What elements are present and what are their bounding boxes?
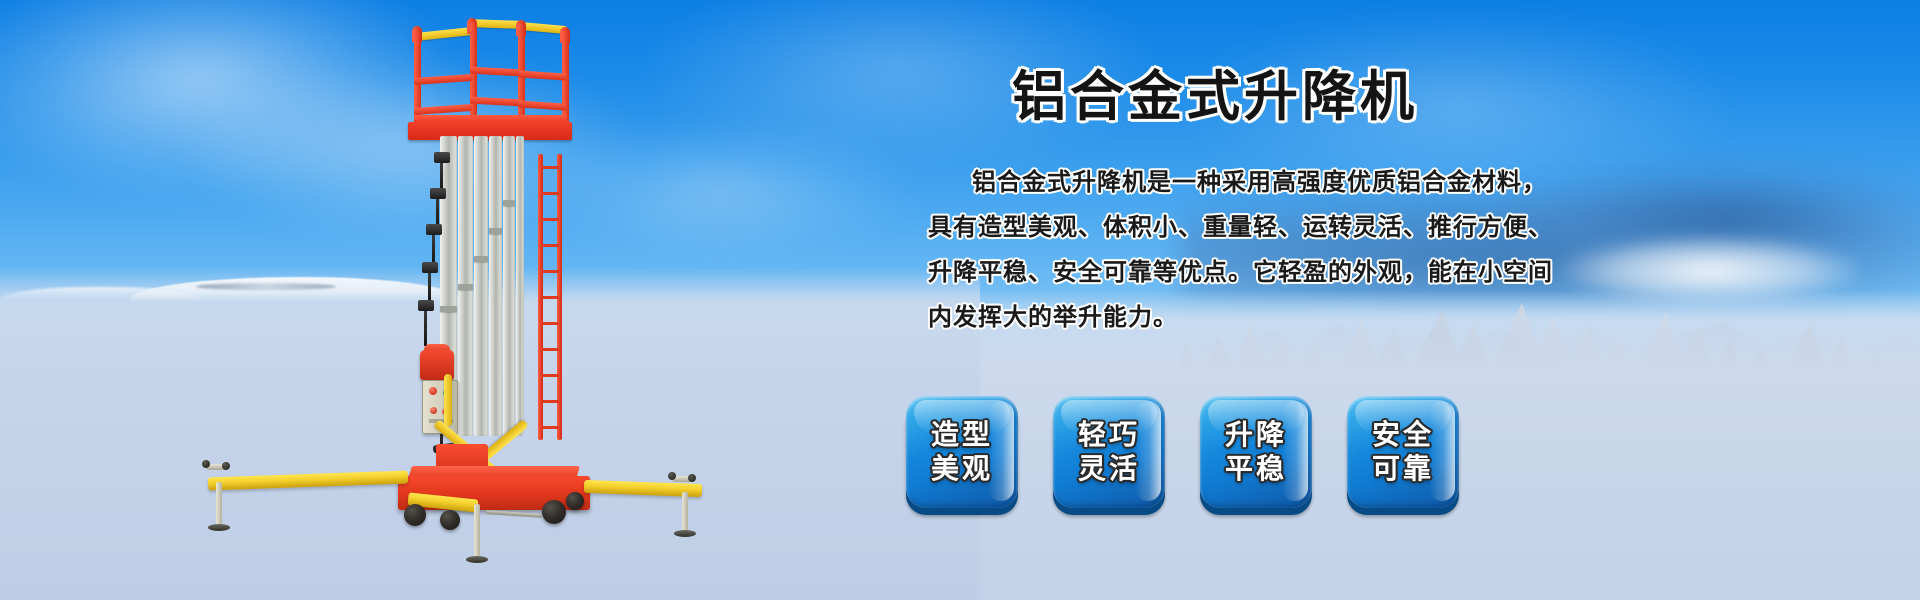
feature-badge-appearance[interactable]: 造型 美观 <box>906 396 1018 508</box>
caster-wheel <box>440 510 460 530</box>
cage-rail <box>414 104 472 115</box>
emergency-stop-button <box>429 387 437 395</box>
outrigger-knob <box>668 472 676 480</box>
feature-badge-safe-reliable[interactable]: 安全 可靠 <box>1347 396 1459 508</box>
cage-rail <box>470 67 520 77</box>
ladder-rung <box>541 270 559 273</box>
cage-rail <box>518 70 566 80</box>
wheel-axle <box>486 510 542 518</box>
ladder-rung <box>541 400 559 403</box>
cable-clamp <box>430 188 446 199</box>
cage-rail <box>518 100 566 110</box>
caster-wheel <box>542 500 566 524</box>
outrigger-foot-pad <box>466 556 488 563</box>
guardrail-top-yellow <box>414 27 474 41</box>
badge-line-2: 美观 <box>931 452 993 486</box>
lift-cable <box>424 310 427 346</box>
outrigger-foot-pad <box>674 530 696 537</box>
ladder-rung <box>541 166 559 169</box>
mast-joint <box>440 306 457 312</box>
page-title: 铝合金式升降机 <box>1012 52 1418 131</box>
mast-column <box>503 136 515 436</box>
outrigger-foot-pad <box>208 524 230 531</box>
mast-joint <box>489 228 502 234</box>
feature-badge-lightweight[interactable]: 轻巧 灵活 <box>1053 396 1165 508</box>
ladder-rung <box>541 192 559 195</box>
mast-column <box>474 136 488 436</box>
ladder-rung <box>541 322 559 325</box>
caster-wheel <box>404 504 426 526</box>
ladder-rung <box>541 374 559 377</box>
badge-line-1: 轻巧 <box>1078 418 1140 452</box>
product-banner: 铝合金式升降机 铝合金式升降机是一种采用高强度优质铝合金材料， 具有造型美观、体… <box>0 0 1920 600</box>
ladder-rung <box>541 296 559 299</box>
badge-line-2: 灵活 <box>1078 452 1140 486</box>
outrigger-knob <box>688 474 696 482</box>
mast-column <box>489 136 502 436</box>
ladder-rung <box>541 426 559 429</box>
badge-line-1: 升降 <box>1225 418 1287 452</box>
outrigger-leg <box>474 504 480 558</box>
cage-rail <box>414 74 472 85</box>
mast-joint <box>503 200 515 206</box>
ladder-rung <box>541 244 559 247</box>
badge-line-1: 安全 <box>1372 418 1434 452</box>
cable-clamp <box>422 262 438 273</box>
feature-badge-smooth-lift[interactable]: 升降 平稳 <box>1200 396 1312 508</box>
description-line: 具有造型美观、体积小、重量轻、运转灵活、推行方便、 <box>928 205 1568 250</box>
badge-line-1: 造型 <box>931 418 993 452</box>
outrigger-leg <box>682 492 688 532</box>
description-line: 铝合金式升降机是一种采用高强度优质铝合金材料， <box>928 160 1568 205</box>
outrigger-knob <box>222 462 230 470</box>
product-description: 铝合金式升降机是一种采用高强度优质铝合金材料， 具有造型美观、体积小、重量轻、运… <box>928 160 1568 340</box>
ladder-rung <box>541 218 559 221</box>
mast-joint <box>458 284 473 290</box>
cage-rail <box>470 97 520 107</box>
outrigger-leg <box>216 482 222 526</box>
lift-machine-illustration <box>290 14 710 600</box>
badge-line-2: 可靠 <box>1372 452 1434 486</box>
outrigger-knob <box>202 460 210 468</box>
guardrail-top-yellow <box>470 19 522 29</box>
cable-clamp <box>434 152 450 163</box>
cable-clamp <box>426 224 442 235</box>
description-line: 升降平稳、安全可靠等优点。它轻盈的外观，能在小空间 <box>928 250 1568 295</box>
caster-wheel <box>566 492 584 510</box>
mast-joint <box>474 256 488 262</box>
yellow-vertical-brace <box>444 374 452 426</box>
badge-line-2: 平稳 <box>1225 452 1287 486</box>
cable-clamp <box>418 300 434 311</box>
description-line: 内发挥大的举升能力。 <box>928 295 1568 340</box>
work-platform-cage <box>408 14 572 146</box>
mast-column <box>516 136 524 436</box>
access-ladder <box>538 154 562 440</box>
control-switch <box>430 407 437 414</box>
ladder-rung <box>541 348 559 351</box>
